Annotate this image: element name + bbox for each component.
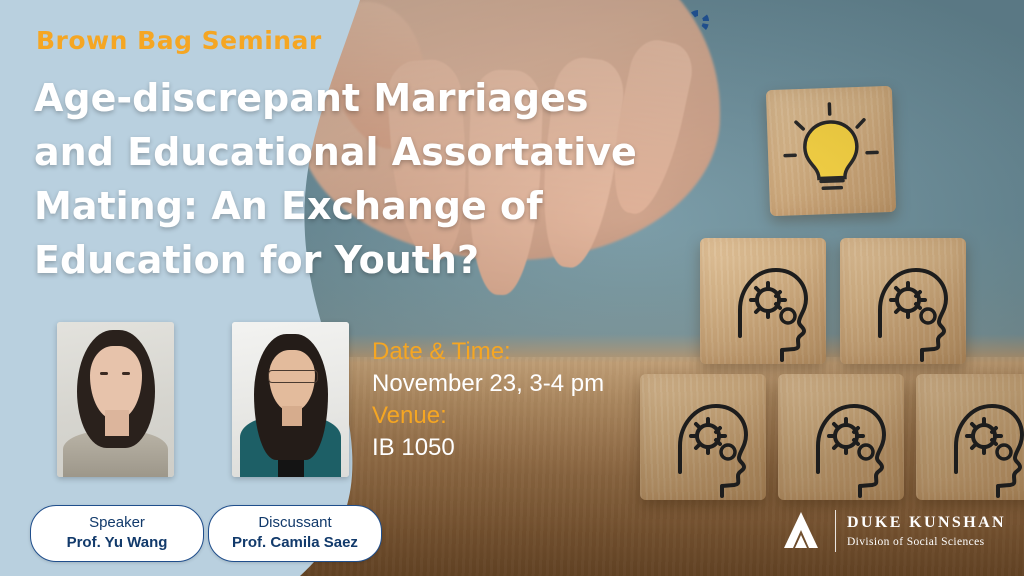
speaker-role-label: Speaker [31, 513, 203, 533]
speaker-photo [57, 322, 174, 477]
duke-kunshan-logo: DUKE KUNSHAN Division of Social Sciences [778, 508, 1006, 554]
swirl-icon [684, 8, 714, 38]
speaker-name-label: Prof. Yu Wang [31, 533, 203, 553]
event-details: Date & Time: November 23, 3-4 pm Venue: … [372, 336, 604, 465]
block-head-gears [640, 374, 766, 500]
head-gears-icon [640, 374, 766, 500]
datetime-label: Date & Time: [372, 336, 604, 368]
discussant-role-label: Discussant [209, 513, 381, 533]
discussant-name-pill: Discussant Prof. Camila Saez [208, 505, 382, 562]
venue-value: IB 1050 [372, 432, 604, 464]
discussant-name-label: Prof. Camila Saez [209, 533, 381, 553]
block-head-gears [840, 238, 966, 364]
logo-secondary-text: Division of Social Sciences [847, 536, 1006, 548]
block-head-gears [916, 374, 1024, 500]
head-gears-icon [700, 238, 826, 364]
head-gears-icon [916, 374, 1024, 500]
block-head-gears [778, 374, 904, 500]
speaker-name-pill: Speaker Prof. Yu Wang [30, 505, 204, 562]
logo-mark-icon [778, 508, 824, 554]
head-gears-icon [778, 374, 904, 500]
discussant-photo [232, 322, 349, 477]
seminar-kicker: Brown Bag Seminar [36, 26, 322, 55]
page-title: Age-discrepant Marriages and Educational… [34, 72, 674, 288]
block-head-gears [700, 238, 826, 364]
logo-primary-text: DUKE KUNSHAN [847, 514, 1006, 532]
logo-divider [835, 510, 836, 552]
venue-label: Venue: [372, 400, 604, 432]
datetime-value: November 23, 3-4 pm [372, 368, 604, 400]
seminar-poster: Brown Bag Seminar Age-discrepant Marriag… [0, 0, 1024, 576]
head-gears-icon [840, 238, 966, 364]
